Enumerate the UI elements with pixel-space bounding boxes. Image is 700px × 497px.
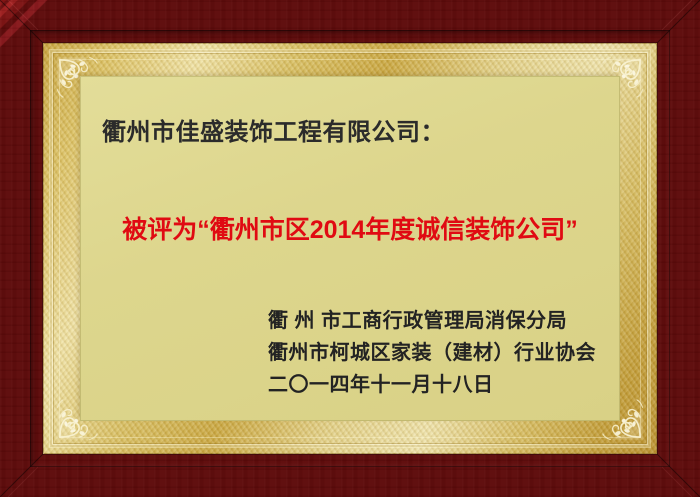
certificate-panel: 衢州市佳盛装饰工程有限公司： 被评为“衢州市区2014年度诚信装饰公司” 衢 州… <box>80 76 620 421</box>
signature-line: 衢 州 市工商行政管理局消保分局 <box>268 305 596 337</box>
award-plaque: 衢州市佳盛装饰工程有限公司： 被评为“衢州市区2014年度诚信装饰公司” 衢 州… <box>0 0 700 497</box>
signature-block: 衢 州 市工商行政管理局消保分局 衢州市柯城区家装（建材）行业协会 二〇一四年十… <box>268 305 596 401</box>
recipient-company-line: 衢州市佳盛装饰工程有限公司： <box>102 112 445 147</box>
signature-date: 二〇一四年十一月十八日 <box>268 369 596 401</box>
signature-line: 衢州市柯城区家装（建材）行业协会 <box>268 337 596 369</box>
award-title-line: 被评为“衢州市区2014年度诚信装饰公司” <box>80 210 620 246</box>
